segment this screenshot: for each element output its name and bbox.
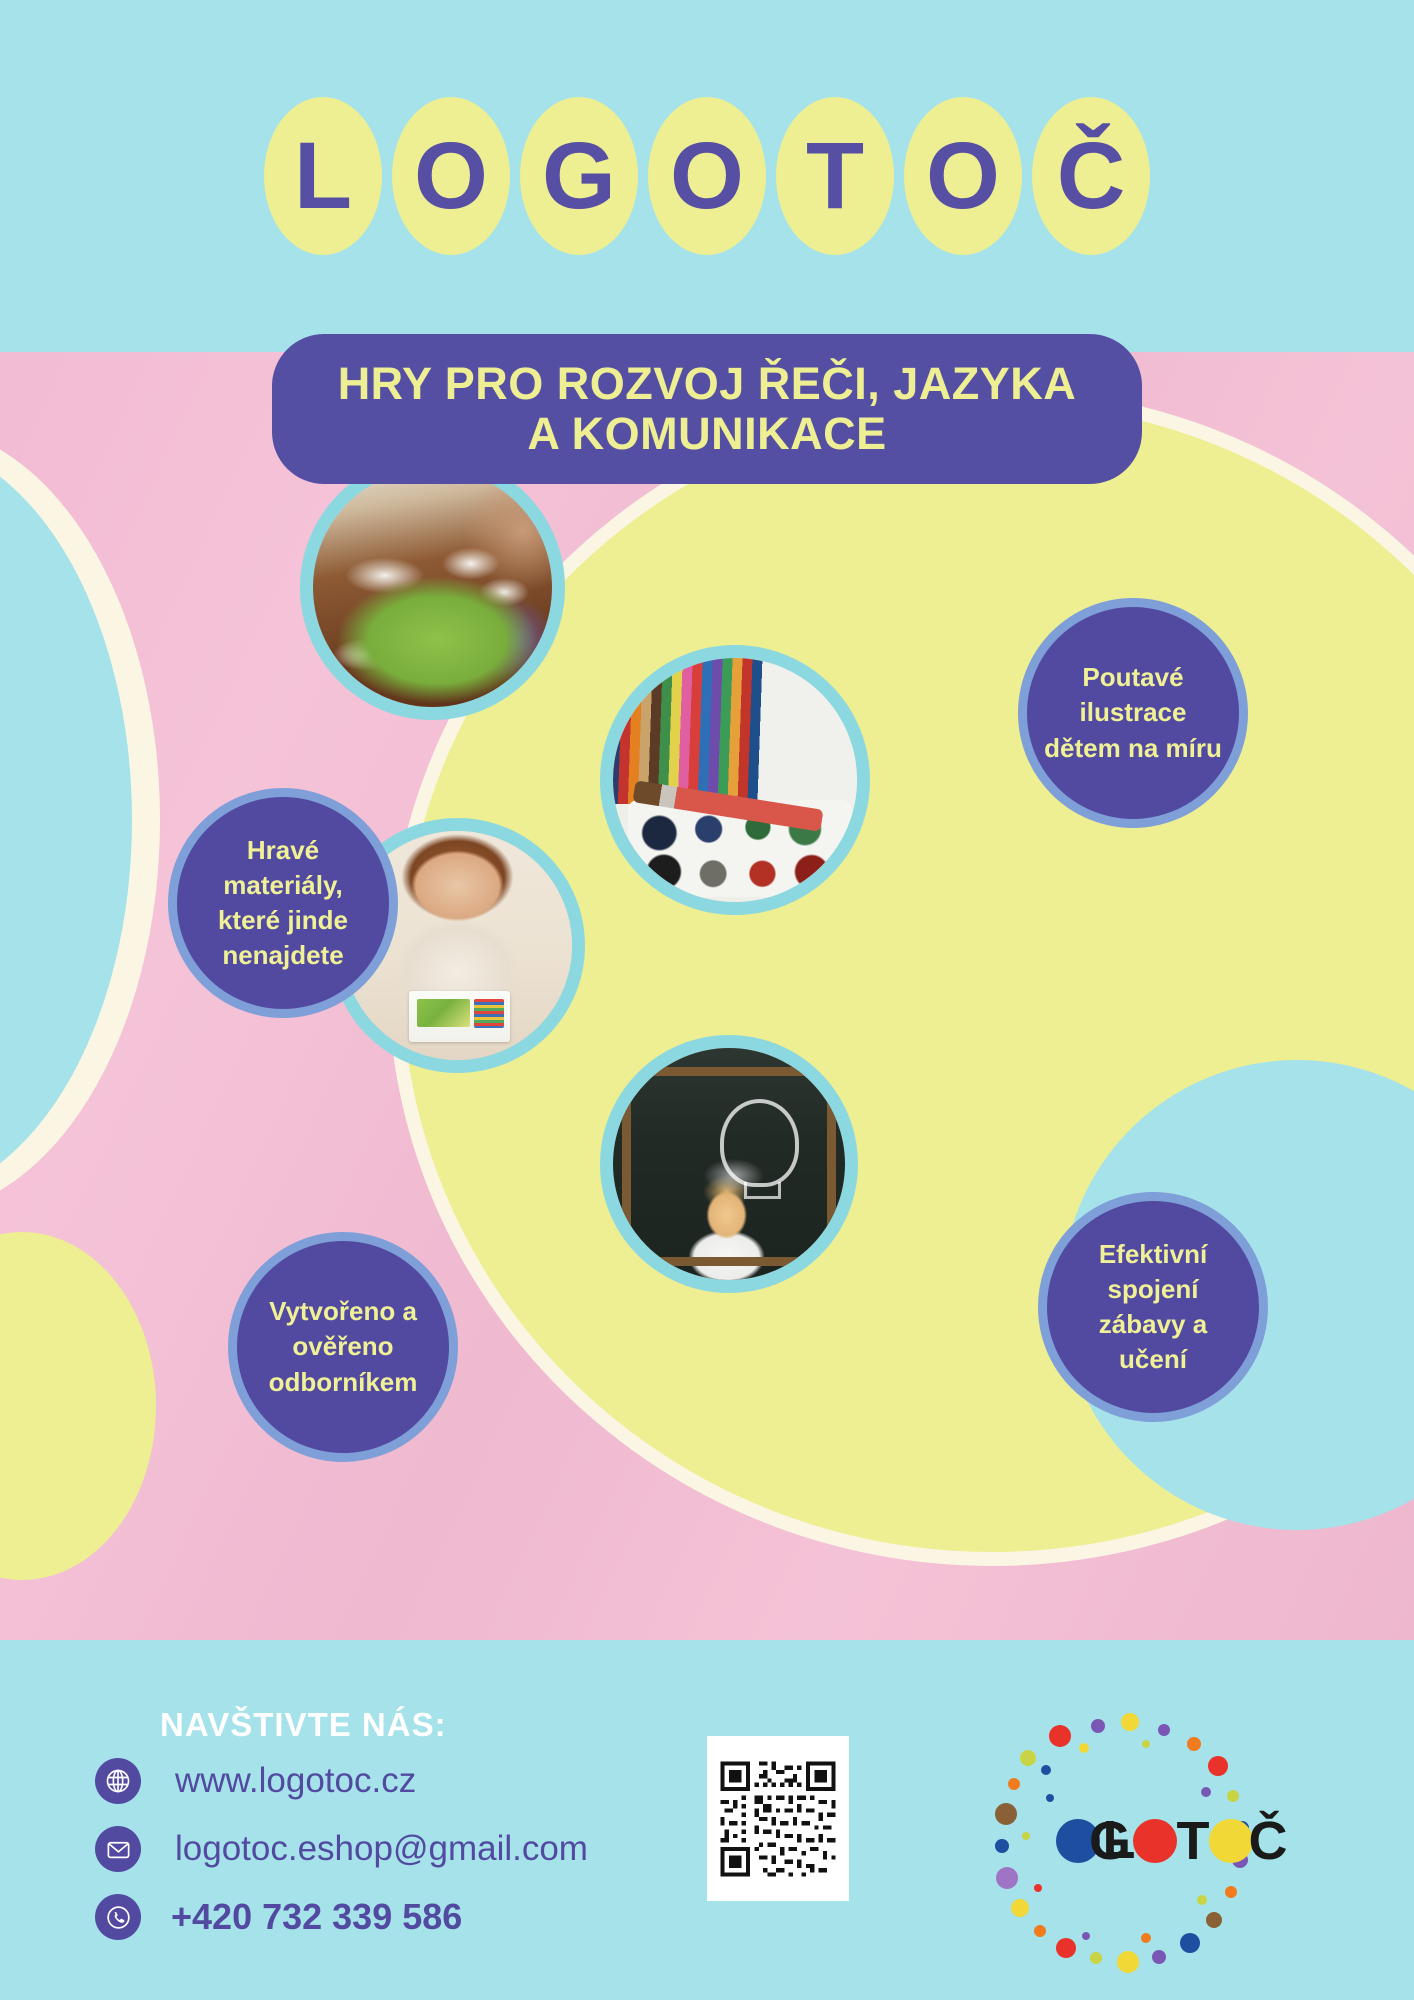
- envelope-icon: [95, 1826, 141, 1872]
- headline-line-2: A KOMUNIKACE: [527, 409, 886, 459]
- footer-heading: NAVŠTIVTE NÁS:: [160, 1706, 447, 1744]
- logo-letter-3: G: [520, 97, 638, 255]
- phone-icon: [95, 1894, 141, 1940]
- contact-row-email[interactable]: logotoc.eshop@gmail.com: [95, 1826, 588, 1872]
- feature-bubble-illustrations: Poutavé ilustrace dětem na míru: [1018, 598, 1248, 828]
- boy-at-chalkboard-photo: [600, 1035, 858, 1293]
- logo-letter-glyph: G: [542, 129, 616, 224]
- lightbulb-drawing-icon: [720, 1099, 799, 1187]
- feature-bubble-materials-text: Hravé materiály, které jinde nenajdete: [177, 833, 389, 973]
- contact-row-website[interactable]: www.logotoc.cz: [95, 1758, 588, 1804]
- logo-letter-glyph: Č: [1057, 129, 1126, 224]
- brand-logo: L G T Č: [950, 1700, 1290, 1980]
- feature-bubble-materials: Hravé materiály, které jinde nenajdete: [168, 788, 398, 1018]
- logo-letter-1: L: [264, 97, 382, 255]
- logo-letter-glyph: L: [294, 129, 352, 224]
- logo-letter-5: T: [776, 97, 894, 255]
- logo-letter-glyph: O: [414, 129, 488, 224]
- colored-pencils-and-watercolor-photo: [600, 645, 870, 915]
- headline-line-1: HRY PRO ROZVOJ ŘEČI, JAZYKA: [338, 359, 1077, 409]
- globe-icon: [95, 1758, 141, 1804]
- feature-bubble-expert: Vytvořeno a ověřeno odborníkem: [228, 1232, 458, 1462]
- svg-text:G: G: [1089, 1811, 1131, 1871]
- svg-text:T: T: [1177, 1811, 1210, 1871]
- email-value: logotoc.eshop@gmail.com: [175, 1829, 588, 1869]
- phone-value: +420 732 339 586: [171, 1896, 462, 1938]
- brand-logo-o-red: [1133, 1819, 1177, 1863]
- board-game-photo: [300, 455, 565, 720]
- feature-bubble-effective-text: Efektivní spojení zábavy a učení: [1047, 1237, 1259, 1377]
- contact-list: www.logotoc.cz logotoc.eshop@gmail.com +…: [95, 1758, 588, 1962]
- logo-letter-glyph: O: [670, 129, 744, 224]
- qr-code[interactable]: [707, 1736, 849, 1901]
- feature-bubble-effective: Efektivní spojení zábavy a učení: [1038, 1192, 1268, 1422]
- board-game-photo-image: [313, 468, 552, 707]
- contact-row-phone[interactable]: +420 732 339 586: [95, 1894, 588, 1940]
- logo-letter-glyph: O: [926, 129, 1000, 224]
- logo-letter-glyph: T: [806, 129, 864, 224]
- poster: L O G O T O Č HRY PRO ROZVOJ ŘEČI, JAZYK…: [0, 0, 1414, 2000]
- feature-bubble-illustrations-text: Poutavé ilustrace dětem na míru: [1027, 660, 1239, 765]
- website-value: www.logotoc.cz: [175, 1761, 416, 1801]
- logo-letter-2: O: [392, 97, 510, 255]
- brand-logo-o-yellow: [1209, 1819, 1253, 1863]
- svg-text:Č: Č: [1249, 1810, 1288, 1871]
- logo-letter-4: O: [648, 97, 766, 255]
- logo-wordmark: L O G O T O Č: [0, 96, 1414, 256]
- logo-letter-6: O: [904, 97, 1022, 255]
- game-box: [409, 991, 510, 1041]
- headline-banner: HRY PRO ROZVOJ ŘEČI, JAZYKA A KOMUNIKACE: [272, 334, 1142, 484]
- feature-bubble-expert-text: Vytvořeno a ověřeno odborníkem: [237, 1294, 449, 1399]
- logo-letter-7: Č: [1032, 97, 1150, 255]
